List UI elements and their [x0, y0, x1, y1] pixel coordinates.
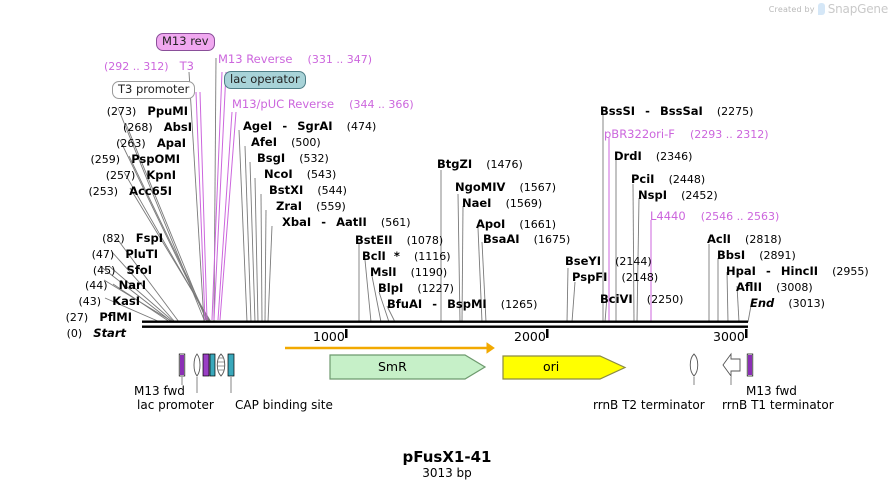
site-name-aflii: AflII — [736, 280, 762, 294]
site-label-hpai-hincii[interactable]: HpaI - HincII (2955) — [726, 262, 869, 278]
site-pos-btgzi: (1476) — [486, 158, 523, 171]
site-separator-dash: - — [321, 215, 326, 229]
site-name-pflmi: PflMI — [99, 310, 132, 324]
site-pos-pspfi: (2148) — [622, 271, 659, 284]
site-label-naei[interactable]: NaeI (1569) — [462, 194, 542, 210]
site-name-end: End — [750, 296, 774, 310]
feature-label-ori: ori — [543, 361, 559, 374]
primer-range-m13-puc-reverse: (344 .. 366) — [349, 98, 414, 111]
site-pos-pluti: (47) — [92, 248, 115, 261]
site-name-acli: AclI — [707, 232, 731, 246]
site-label-bcivi[interactable]: BciVI (2250) — [600, 290, 683, 306]
site-name-sgrai: SgrAI — [297, 119, 332, 133]
boxed-label-lac-operator[interactable]: lac operator — [224, 71, 306, 89]
site-name-afei: AfeI — [251, 135, 277, 149]
site-separator-dash: - — [645, 104, 650, 118]
site-label-apai[interactable]: (263) ApaI — [0, 134, 186, 150]
site-name-acc65i: Acc65I — [129, 184, 172, 198]
site-label-msli[interactable]: MslI (1190) — [370, 263, 447, 279]
boxed-label-t3-promoter[interactable]: T3 promoter — [112, 81, 195, 99]
site-label-absi[interactable]: (268) AbsI — [0, 118, 192, 134]
site-name-agei: AgeI — [243, 119, 272, 133]
primer-range-t3: (292 .. 312) — [104, 60, 169, 73]
primer-label-m13-puc-reverse[interactable]: M13/pUC Reverse (344 .. 366) — [232, 95, 414, 111]
site-name-kpni: KpnI — [146, 168, 176, 182]
site-label-bfuai-bspmi[interactable]: BfuAI - BspMI (1265) — [387, 295, 537, 311]
site-name-bbsi: BbsI — [717, 248, 745, 262]
primer-label-m13-reverse[interactable]: M13 Reverse (331 .. 347) — [218, 50, 372, 66]
site-label-start[interactable]: (0) Start — [0, 324, 126, 340]
site-pos-agei-sgrai: (474) — [347, 120, 377, 133]
ruler-ticks — [345, 329, 748, 338]
site-pos-xbai-aatii: (561) — [381, 216, 411, 229]
site-pos-pcii: (2448) — [669, 173, 706, 186]
site-pos-acli: (2818) — [745, 233, 782, 246]
primer-name-m13-puc-reverse: M13/pUC Reverse — [232, 97, 334, 111]
site-name-bspmi: BspMI — [447, 297, 487, 311]
site-label-sfoi[interactable]: (45) SfoI — [0, 261, 152, 277]
site-label-nari[interactable]: (44) NarI — [0, 276, 146, 292]
site-pos-ngomiv: (1567) — [519, 181, 556, 194]
site-label-apoi[interactable]: ApoI (1661) — [476, 215, 556, 231]
site-name-bsssai: BssSaI — [660, 104, 703, 118]
primer-range-l4440: (2546 .. 2563) — [701, 210, 780, 223]
boxed-label-m13-rev[interactable]: M13 rev — [156, 33, 215, 51]
site-pos-bstxi: (544) — [317, 184, 347, 197]
site-name-pspfi: PspFI — [572, 270, 607, 284]
plasmid-backbone — [142, 321, 748, 328]
site-pos-bseyi: (2144) — [615, 255, 652, 268]
site-label-btgzi[interactable]: BtgZI (1476) — [437, 155, 523, 171]
primer-label-t3[interactable]: (292 .. 312) T3 — [104, 57, 194, 73]
feature-callout-rrnb-t2-terminator: rrnB T2 terminator — [593, 399, 705, 413]
site-pos-pspomi: (259) — [91, 153, 121, 166]
site-name-apai: ApaI — [157, 136, 186, 150]
site-pos-bcli: (1116) — [414, 250, 451, 263]
site-pos-hpai-hincii: (2955) — [832, 265, 869, 278]
site-separator-dash: - — [282, 119, 287, 133]
feature-callout-rrnb-t1-terminator: rrnB T1 terminator — [722, 399, 834, 413]
primer-name-t3: T3 — [180, 59, 194, 73]
feature-callout-m13-fwd-right: M13 fwd — [746, 385, 797, 399]
site-label-pluti[interactable]: (47) PluTI — [0, 245, 158, 261]
site-name-bsssi: BssSI — [600, 104, 635, 118]
site-label-kpni[interactable]: (257) KpnI — [0, 166, 176, 182]
site-name-aatii: AatII — [336, 215, 367, 229]
site-label-end[interactable]: End (3013) — [750, 294, 825, 310]
site-label-ncoi[interactable]: NcoI (543) — [264, 165, 336, 181]
site-name-ngomiv: NgoMIV — [455, 180, 505, 194]
site-name-hincii: HincII — [781, 264, 818, 278]
site-name-fspi: FspI — [136, 231, 163, 245]
primer-name-pbr322ori-f: pBR322ori-F — [604, 127, 675, 141]
site-name-nspi: NspI — [638, 188, 667, 202]
primer-range-pbr322ori-f: (2293 .. 2312) — [690, 128, 769, 141]
site-label-nspi[interactable]: NspI (2452) — [638, 186, 718, 202]
site-label-bsaai[interactable]: BsaAI (1675) — [483, 230, 570, 246]
site-label-bcli[interactable]: BclI * (1116) — [362, 247, 451, 263]
site-name-zrai: ZraI — [276, 199, 302, 213]
site-label-drdi[interactable]: DrdI (2346) — [614, 147, 692, 163]
site-pos-start: (0) — [67, 327, 83, 340]
site-label-fspi[interactable]: (82) FspI — [0, 229, 163, 245]
site-label-xbai-aatii[interactable]: XbaI - AatII (561) — [282, 213, 411, 229]
site-pos-bfuai-bspmi: (1265) — [501, 298, 538, 311]
site-label-pspfi[interactable]: PspFI (2148) — [572, 268, 658, 284]
site-pos-bsteii: (1078) — [407, 234, 444, 247]
feature-callout-lac-promoter: lac promoter — [137, 399, 214, 413]
site-name-bsaai: BsaAI — [483, 232, 520, 246]
site-pos-bsgi: (532) — [299, 152, 329, 165]
site-name-bcivi: BciVI — [600, 292, 633, 306]
site-label-ngomiv[interactable]: NgoMIV (1567) — [455, 178, 556, 194]
site-name-blpi: BlpI — [378, 281, 403, 295]
page-title: pFusX1-41 — [0, 448, 894, 466]
site-label-agei-sgrai[interactable]: AgeI - SgrAI (474) — [243, 117, 376, 133]
site-pos-bcivi: (2250) — [647, 293, 684, 306]
site-name-start: Start — [93, 326, 126, 340]
site-name-bsgi: BsgI — [257, 151, 285, 165]
site-label-kasi[interactable]: (43) KasI — [0, 292, 140, 308]
primer-name-l4440: L4440 — [650, 209, 686, 223]
site-pos-end: (3013) — [788, 297, 825, 310]
site-name-bcli: BclI — [362, 249, 386, 263]
site-name-bstxi: BstXI — [269, 183, 303, 197]
site-label-ppumi[interactable]: (273) PpuMI — [0, 102, 188, 118]
site-name-msli: MslI — [370, 265, 397, 279]
leader-lines-primer-gray — [189, 58, 216, 322]
site-pos-bsaai: (1675) — [534, 233, 571, 246]
site-pos-aflii: (3008) — [776, 281, 813, 294]
ruler-tick-label-3000: 3000 — [713, 331, 745, 344]
site-pos-msli: (1190) — [411, 266, 448, 279]
site-pos-naei: (1569) — [506, 197, 543, 210]
site-label-bsssi-bsssai[interactable]: BssSI - BssSaI (2275) — [600, 102, 753, 118]
site-label-bstxi[interactable]: BstXI (544) — [269, 181, 347, 197]
plasmid-map-canvas: Created by SnapGene — [0, 0, 894, 487]
site-pos-acc65i: (253) — [88, 185, 118, 198]
primer-label-l4440[interactable]: L4440 (2546 .. 2563) — [650, 207, 779, 223]
site-name-hpai: HpaI — [726, 264, 756, 278]
ruler-tick-label-1000: 1000 — [313, 331, 345, 344]
site-name-nari: NarI — [119, 278, 146, 292]
site-name-naei: NaeI — [462, 196, 491, 210]
site-pos-drdi: (2346) — [656, 150, 693, 163]
primer-name-m13-reverse: M13 Reverse — [218, 52, 292, 66]
site-label-acc65i[interactable]: (253) Acc65I — [0, 182, 172, 198]
feature-label-smr: SmR — [378, 361, 407, 374]
site-name-bseyi: BseYI — [565, 254, 601, 268]
site-separator-dash: - — [432, 297, 437, 311]
site-name-drdi: DrdI — [614, 149, 642, 163]
primer-range-m13-reverse: (331 .. 347) — [308, 53, 373, 66]
feature-callout-m13-fwd-left: M13 fwd — [134, 385, 185, 399]
site-name-btgzi: BtgZI — [437, 157, 472, 171]
site-pos-ncoi: (543) — [307, 168, 337, 181]
site-pos-bsssi-bsssai: (2275) — [717, 105, 754, 118]
site-name-bfuai: BfuAI — [387, 297, 422, 311]
site-name-kasi: KasI — [112, 294, 140, 308]
site-name-xbai: XbaI — [282, 215, 311, 229]
site-name-apoi: ApoI — [476, 217, 505, 231]
site-label-pspomi[interactable]: (259) PspOMI — [0, 150, 180, 166]
site-label-pflmi[interactable]: (27) PflMI — [0, 308, 132, 324]
site-pos-nspi: (2452) — [681, 189, 718, 202]
primer-label-pbr322ori-f[interactable]: pBR322ori-F (2293 .. 2312) — [604, 125, 769, 141]
site-name-ncoi: NcoI — [264, 167, 293, 181]
site-name-pluti: PluTI — [125, 247, 158, 261]
plasmid-length-label: 3013 bp — [0, 466, 894, 480]
site-pos-afei: (500) — [291, 136, 321, 149]
ruler-tick-label-2000: 2000 — [514, 331, 546, 344]
site-name-absi: AbsI — [164, 120, 192, 134]
site-name-pcii: PciI — [631, 172, 654, 186]
orf-orange-arrow — [285, 343, 494, 353]
feature-callout-cap-binding-site: CAP binding site — [235, 399, 333, 413]
site-pos-ppumi: (273) — [107, 105, 137, 118]
site-name-sfoi: SfoI — [127, 263, 152, 277]
